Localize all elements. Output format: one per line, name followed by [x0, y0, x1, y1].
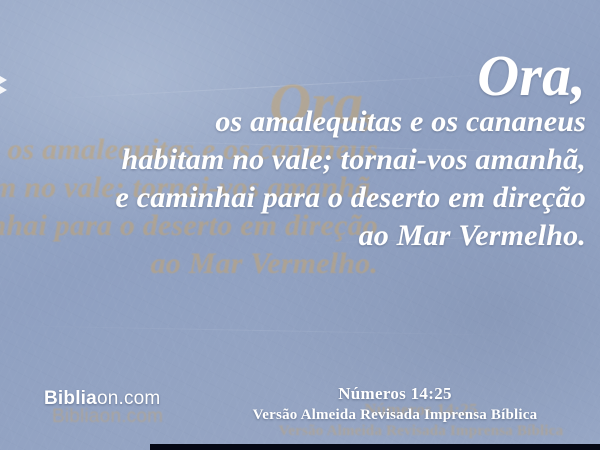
brand-logo: Bibliaon.com — [44, 388, 160, 410]
brand-name-light: on.com — [97, 388, 161, 409]
verse-line-1: Ora, — [0, 44, 586, 103]
bottom-dark-strip — [150, 444, 600, 450]
verse-line-4: e caminhai para o deserto em direção — [0, 179, 586, 217]
verse-image-card: Ora, os amalequitas e os cananeus habita… — [0, 0, 600, 450]
reference-ghost-version: Versão Almeida Revisada Imprensa Bíblica — [226, 423, 600, 440]
verse-line-2: os amalequitas e os cananeus — [0, 103, 586, 141]
reference-book-chapter-verse: Números 14:25 — [200, 384, 590, 404]
brand-name-strong: Biblia — [44, 388, 97, 409]
verse-reference: Números 14:25 Versão Almeida Revisada Im… — [200, 384, 590, 424]
reference-bible-version: Versão Almeida Revisada Imprensa Bíblica — [200, 407, 590, 424]
verse-text: Ora, os amalequitas e os cananeus habita… — [0, 44, 586, 255]
verse-line-5: ao Mar Vermelho. — [0, 217, 586, 255]
fabric-crease — [0, 325, 520, 336]
verse-line-3: habitam no vale; tornai-vos amanhã, — [0, 141, 586, 179]
